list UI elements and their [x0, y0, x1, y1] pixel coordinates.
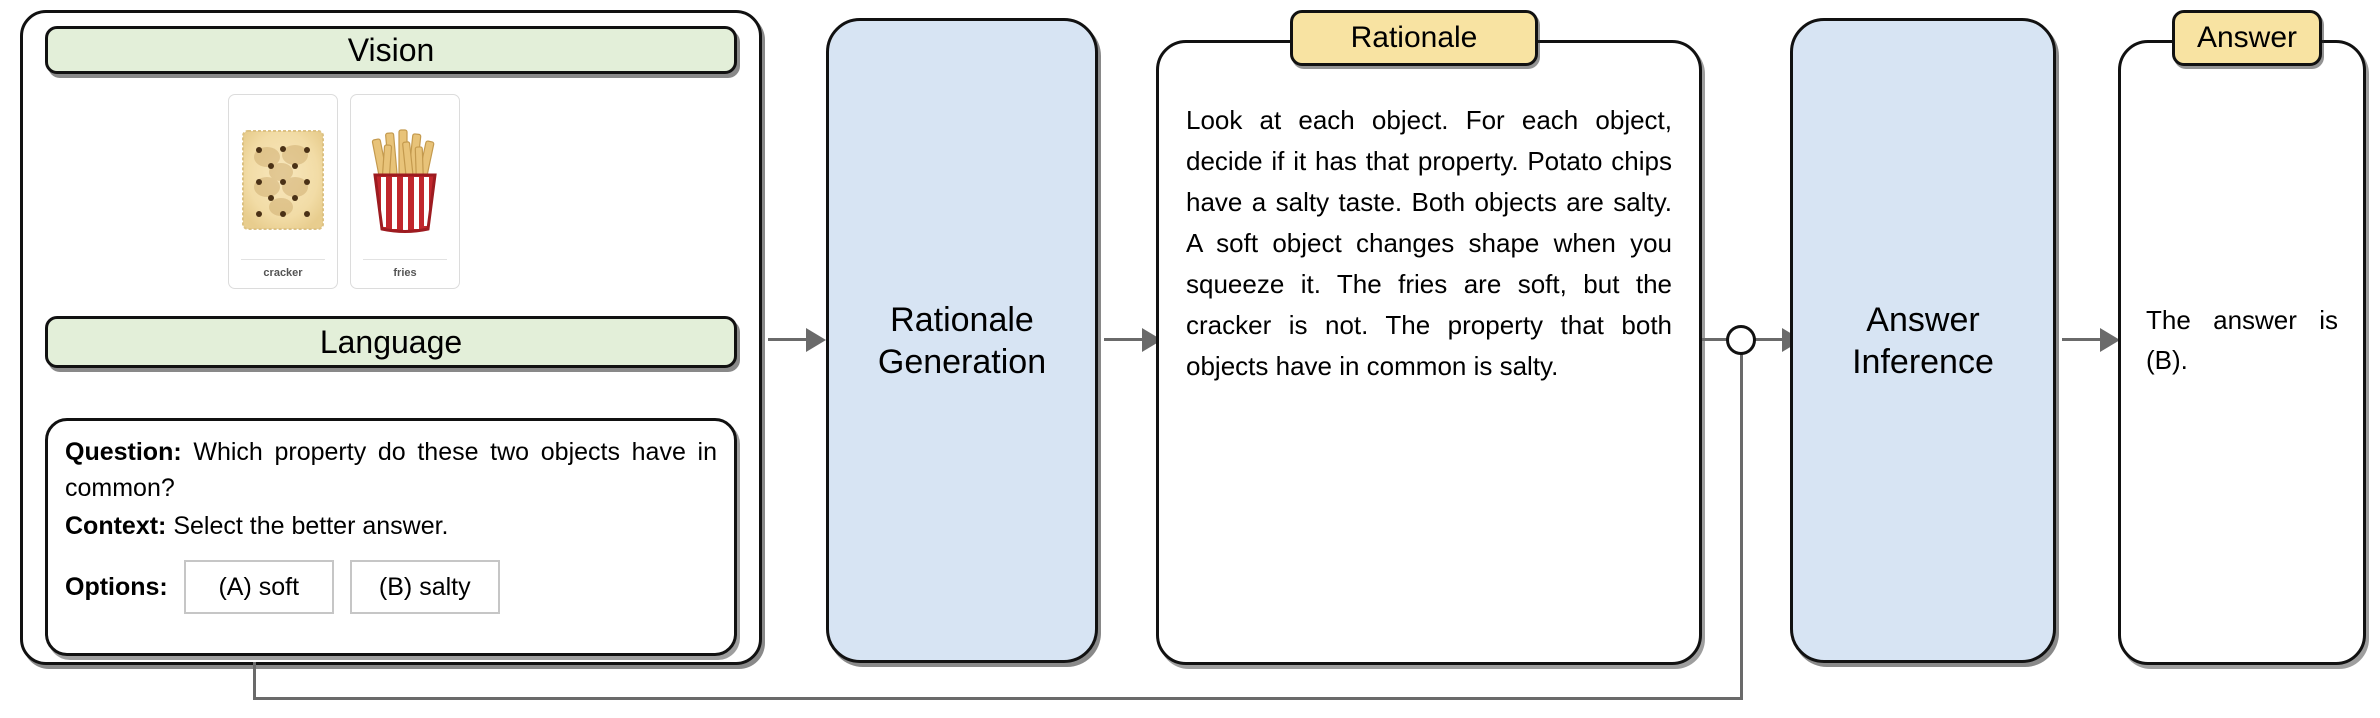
- arrow-head: [2100, 328, 2120, 352]
- image-caption: fries: [393, 260, 416, 288]
- stage-answer-inference-line2: Inference: [1852, 341, 1994, 383]
- option-a[interactable]: (A) soft: [184, 560, 334, 614]
- feedback-line-left: [253, 697, 1743, 700]
- vision-header: Vision: [45, 26, 737, 74]
- question-label: Question:: [65, 438, 182, 466]
- rationale-tag: Rationale: [1290, 10, 1538, 66]
- pipeline-diagram: Vision: [0, 0, 2380, 718]
- stage-answer-inference-line1: Answer: [1852, 299, 1994, 341]
- rationale-text: Look at each object. For each object, de…: [1186, 100, 1672, 387]
- stage-rationale-generation-line1: Rationale: [878, 299, 1046, 341]
- options-row: Options: (A) soft (B) salty: [65, 560, 717, 614]
- question-body: Question: Which property do these two ob…: [45, 418, 737, 656]
- arrow-head: [806, 328, 826, 352]
- stage-answer-inference[interactable]: Answer Inference: [1790, 18, 2056, 663]
- context-text: Select the better answer.: [166, 512, 448, 540]
- merge-junction-node: [1726, 325, 1756, 355]
- feedback-line-up: [253, 662, 256, 700]
- question-line: Question: Which property do these two ob…: [65, 434, 717, 506]
- context-label: Context:: [65, 512, 166, 540]
- vision-header-label: Vision: [348, 32, 435, 69]
- feedback-line-down: [1740, 353, 1743, 700]
- answer-tag-label: Answer: [2197, 21, 2297, 55]
- image-card[interactable]: cracker: [228, 94, 338, 289]
- answer-text: The answer is (B).: [2146, 300, 2338, 380]
- rationale-to-junction-line: [1702, 338, 1728, 341]
- option-b[interactable]: (B) salty: [350, 560, 500, 614]
- stage-rationale-generation-line2: Generation: [878, 341, 1046, 383]
- answer-tag: Answer: [2172, 10, 2322, 66]
- rationale-tag-label: Rationale: [1351, 21, 1478, 55]
- fries-icon: [355, 103, 455, 257]
- cracker-icon: [233, 103, 333, 257]
- image-caption: cracker: [263, 260, 302, 288]
- image-card[interactable]: fries: [350, 94, 460, 289]
- context-line: Context: Select the better answer.: [65, 508, 717, 544]
- vision-image-cards: cracker: [228, 94, 460, 289]
- language-header: Language: [45, 316, 737, 368]
- stage-rationale-generation[interactable]: Rationale Generation: [826, 18, 1098, 663]
- language-header-label: Language: [320, 324, 462, 361]
- options-label: Options:: [65, 569, 168, 605]
